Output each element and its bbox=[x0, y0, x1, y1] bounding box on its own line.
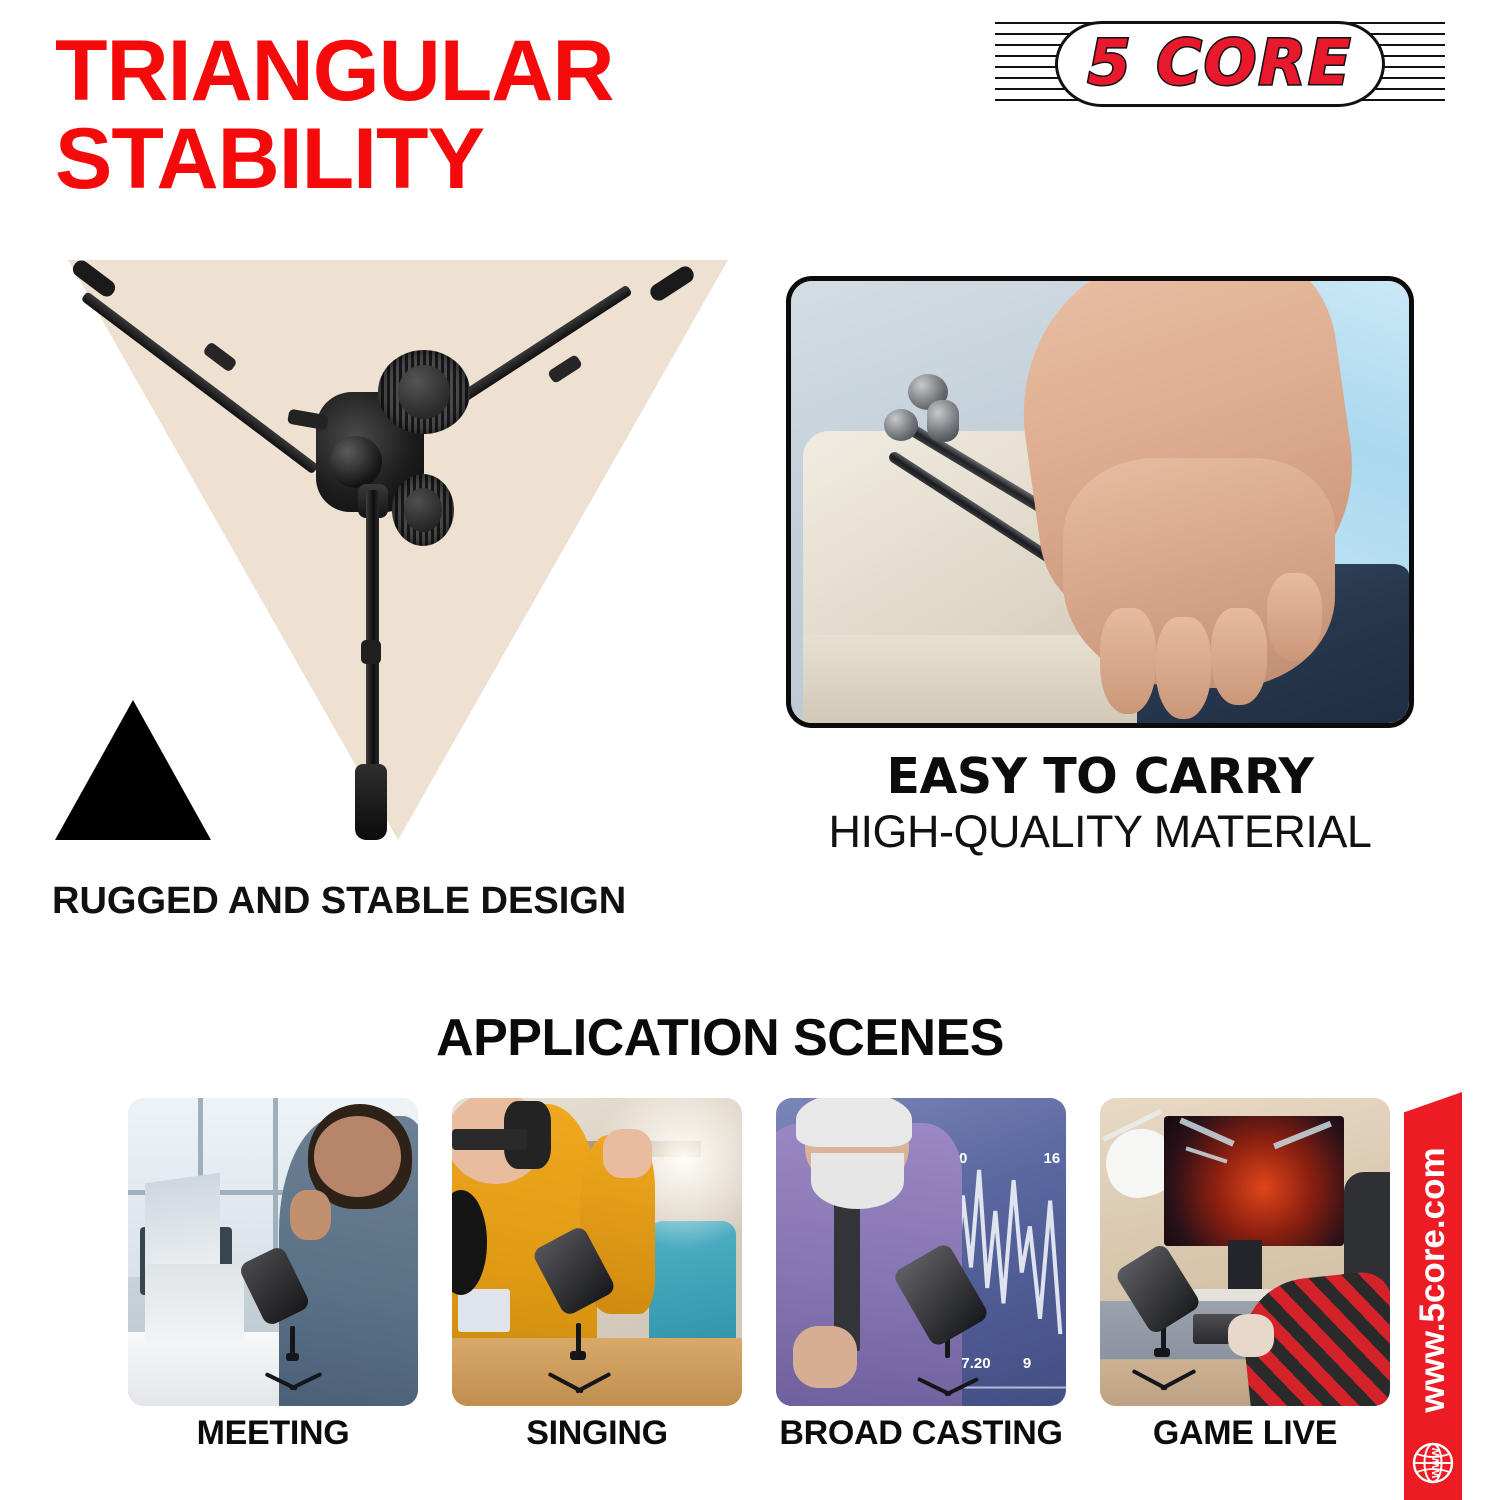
singing-lanyard-badge bbox=[458, 1289, 510, 1332]
photo-finger-3 bbox=[1211, 608, 1267, 705]
adjustment-knob-small bbox=[392, 474, 454, 546]
folded-knob-3 bbox=[927, 400, 959, 442]
rugged-caption: RUGGED AND STABLE DESIGN bbox=[52, 880, 626, 923]
meeting-person-hand bbox=[290, 1190, 331, 1239]
carry-photo-content bbox=[791, 281, 1409, 723]
pole-bottom-tip bbox=[355, 764, 387, 840]
scene-label-row: MEETING SINGING BROAD CASTING GAME LIVE bbox=[128, 1414, 1390, 1453]
promo-infographic: TRIANGULAR STABILITY 5 CORE RUGGED AN bbox=[0, 0, 1500, 1500]
triangle-backdrop bbox=[68, 260, 728, 840]
pole-mid-clip bbox=[361, 640, 381, 664]
photo-thumb bbox=[1267, 573, 1323, 661]
broadcast-value-bottom-right: 9 bbox=[1023, 1355, 1031, 1372]
easy-carry-subtitle: HIGH-QUALITY MATERIAL bbox=[770, 806, 1430, 858]
headline-line-1: TRIANGULAR bbox=[55, 28, 815, 116]
application-scenes-title: APPLICATION SCENES bbox=[0, 1008, 1440, 1068]
website-url: www.5core.com bbox=[1413, 1147, 1453, 1412]
scene-image-singing bbox=[452, 1098, 742, 1406]
headline-line-2: STABILITY bbox=[55, 116, 815, 204]
scene-label-singing: SINGING bbox=[452, 1414, 742, 1453]
website-ribbon: www.5core.com www bbox=[1404, 1092, 1462, 1500]
broadcast-person-hair bbox=[796, 1098, 912, 1147]
broadcast-person-hand bbox=[793, 1326, 857, 1388]
logo-text: 5 CORE bbox=[1087, 26, 1352, 99]
game-monitor-stand bbox=[1228, 1240, 1263, 1295]
singing-tripod bbox=[539, 1323, 620, 1397]
scene-label-meeting: MEETING bbox=[128, 1414, 418, 1453]
scene-image-broadcasting: 15.60 16 7.20 9 bbox=[776, 1098, 1066, 1406]
easy-carry-photo bbox=[786, 276, 1414, 728]
game-screen-content bbox=[1164, 1116, 1344, 1245]
game-hand bbox=[1228, 1314, 1274, 1357]
meeting-laptop-base bbox=[145, 1264, 244, 1344]
meeting-person-head bbox=[314, 1116, 401, 1196]
broadcast-value-top-right: 16 bbox=[1044, 1150, 1061, 1167]
game-tripod bbox=[1123, 1320, 1204, 1394]
scene-thumbnail-row: 15.60 16 7.20 9 bbox=[128, 1098, 1390, 1410]
easy-carry-title: EASY TO CARRY bbox=[786, 748, 1414, 805]
game-monitor bbox=[1164, 1116, 1344, 1245]
scene-image-game-live bbox=[1100, 1098, 1390, 1406]
folded-knob-2 bbox=[884, 409, 918, 441]
svg-text:www: www bbox=[1427, 1447, 1442, 1479]
www-globe-icon: www bbox=[1410, 1440, 1456, 1486]
scene-image-meeting bbox=[128, 1098, 418, 1406]
singing-glasses bbox=[452, 1129, 527, 1151]
meeting-mullion-v2 bbox=[273, 1098, 278, 1270]
photo-finger-1 bbox=[1100, 608, 1156, 714]
photo-finger-2 bbox=[1156, 617, 1212, 719]
scene-label-broadcasting: BROAD CASTING bbox=[776, 1414, 1066, 1453]
meeting-tripod bbox=[256, 1326, 331, 1394]
adjustment-knob-large bbox=[378, 350, 470, 434]
page-title: TRIANGULAR STABILITY bbox=[55, 28, 815, 203]
hub-ball-joint bbox=[330, 436, 382, 488]
broadcast-person-beard bbox=[811, 1153, 904, 1208]
singing-fist bbox=[603, 1129, 652, 1178]
scene-label-game-live: GAME LIVE bbox=[1100, 1414, 1390, 1453]
meeting-laptop-screen bbox=[145, 1173, 220, 1276]
brand-logo: 5 CORE bbox=[995, 14, 1445, 114]
